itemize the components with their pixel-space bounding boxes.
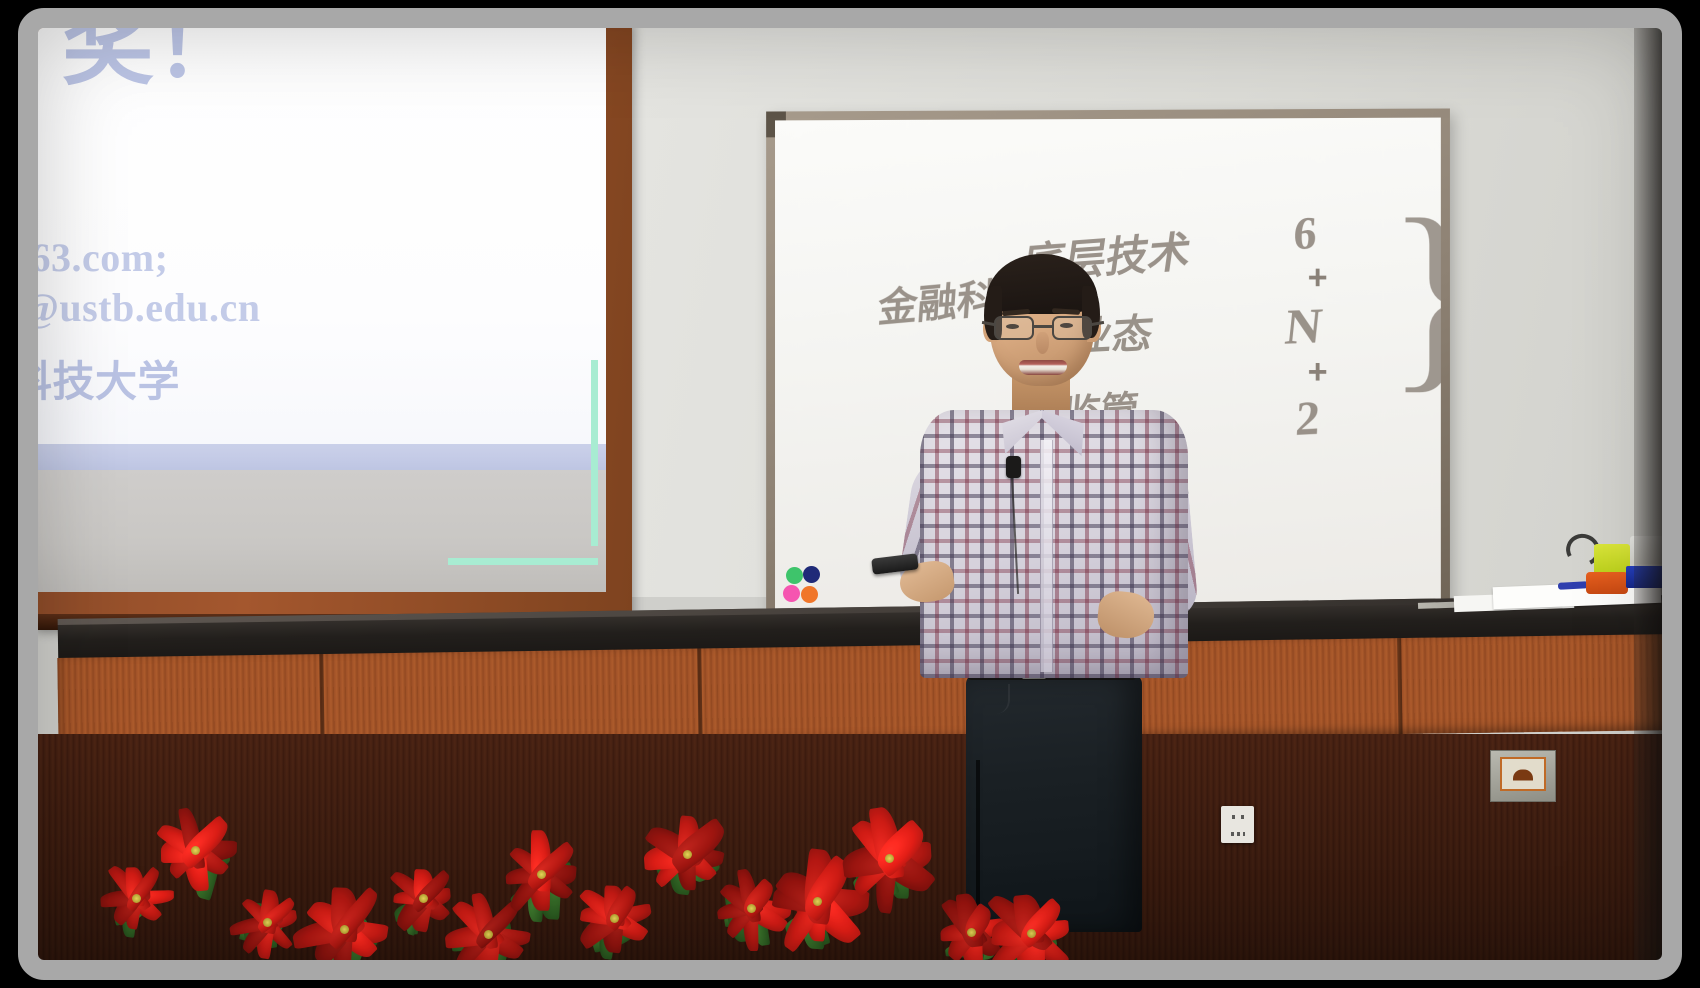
poinsettia-center [885, 854, 894, 863]
poinsettia-center [191, 846, 200, 855]
counter-seam [697, 648, 702, 744]
poinsettia-center [967, 928, 976, 937]
outlet-bottom-slots-icon [1231, 832, 1245, 836]
poinsettia-center [340, 925, 349, 934]
orange-container [1586, 572, 1628, 594]
photo-frame: 奖！ 163.com; l@ustb.edu.cn 科技大学 金融科技 底层技术… [18, 8, 1682, 980]
poinsettia-center [747, 904, 756, 913]
eyeglass-lens-left [994, 316, 1034, 340]
trouser-pocket [976, 684, 1010, 714]
poinsettia-center [683, 850, 692, 859]
poinsettia-center [1027, 929, 1036, 938]
poinsettia-center [610, 914, 619, 923]
photograph: 奖！ 163.com; l@ustb.edu.cn 科技大学 金融科技 底层技术… [38, 28, 1662, 960]
presenter-nose [1036, 332, 1049, 354]
alarm-face [1500, 757, 1546, 791]
counter-seam [1397, 638, 1402, 734]
eyeglass-lens-right [1052, 316, 1092, 340]
shirt-placket [1040, 440, 1053, 672]
right-wall-shadow [1634, 28, 1662, 960]
poinsettia-row [124, 784, 1064, 960]
alarm-button-icon [1513, 769, 1533, 780]
presenter-mouth [1019, 360, 1067, 375]
eyeglass-bridge [1034, 325, 1052, 328]
poinsettia-center [537, 870, 546, 879]
fire-alarm-box [1490, 750, 1556, 802]
poinsettia-center [132, 894, 141, 903]
lapel-microphone-icon [1006, 456, 1021, 478]
outlet-holes-icon [1230, 815, 1246, 831]
presenter-shirt [920, 410, 1188, 678]
